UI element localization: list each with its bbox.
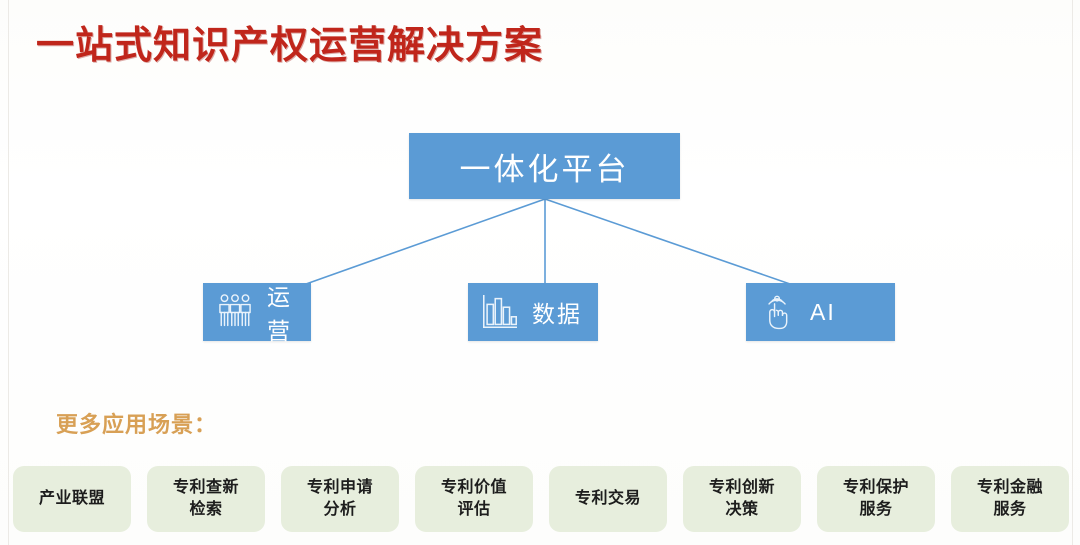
platform-hierarchy-diagram: 一体化平台 运营 [0, 0, 1080, 380]
touch-hand-icon [756, 290, 800, 334]
tag-line-2: 服务 [993, 499, 1026, 521]
bar-chart-icon [478, 290, 522, 334]
three-people-icon [213, 290, 257, 334]
scenario-tag[interactable]: 专利交易 [549, 466, 667, 532]
tag-line-1: 专利交易 [575, 488, 641, 510]
tag-line-1: 专利创新 [709, 477, 775, 499]
node-label: 一体化平台 [460, 144, 630, 189]
connector-root-to-ops [306, 199, 545, 284]
tag-line-2: 评估 [457, 499, 490, 521]
tag-line-2: 分析 [323, 499, 356, 521]
tag-line-1: 专利申请 [307, 477, 373, 499]
scenario-tag[interactable]: 专利价值 评估 [415, 466, 533, 532]
tag-line-1: 专利查新 [173, 477, 239, 499]
node-ai[interactable]: AI [746, 283, 895, 341]
scenario-tag[interactable]: 专利创新 决策 [683, 466, 801, 532]
node-label: AI [810, 299, 836, 326]
tag-line-2: 决策 [725, 499, 758, 521]
node-integrated-platform[interactable]: 一体化平台 [409, 133, 680, 199]
connector-root-to-ai [545, 199, 790, 284]
node-operations[interactable]: 运营 [203, 283, 311, 341]
scenario-tag-row: 产业联盟 专利查新 检索 专利申请 分析 专利价值 评估 专利交易 专利创新 决… [13, 466, 1069, 532]
slide-canvas: 一站式知识产权运营解决方案 一体化平台 [0, 0, 1080, 545]
scenario-tag[interactable]: 专利金融 服务 [951, 466, 1069, 532]
scenario-tag[interactable]: 专利申请 分析 [281, 466, 399, 532]
more-scenarios-caption: 更多应用场景： [56, 407, 217, 439]
node-label: 运营 [267, 278, 297, 346]
scenario-tag[interactable]: 专利保护 服务 [817, 466, 935, 532]
scenario-tag[interactable]: 专利查新 检索 [147, 466, 265, 532]
tag-line-2: 检索 [189, 499, 222, 521]
node-data[interactable]: 数据 [468, 283, 598, 341]
node-label: 数据 [532, 295, 582, 329]
tag-line-1: 专利保护 [843, 477, 909, 499]
scenario-tag[interactable]: 产业联盟 [13, 466, 131, 532]
tag-line-1: 专利金融 [977, 477, 1043, 499]
tag-line-1: 专利价值 [441, 477, 507, 499]
tag-line-1: 产业联盟 [39, 488, 105, 510]
tag-line-2: 服务 [859, 499, 892, 521]
